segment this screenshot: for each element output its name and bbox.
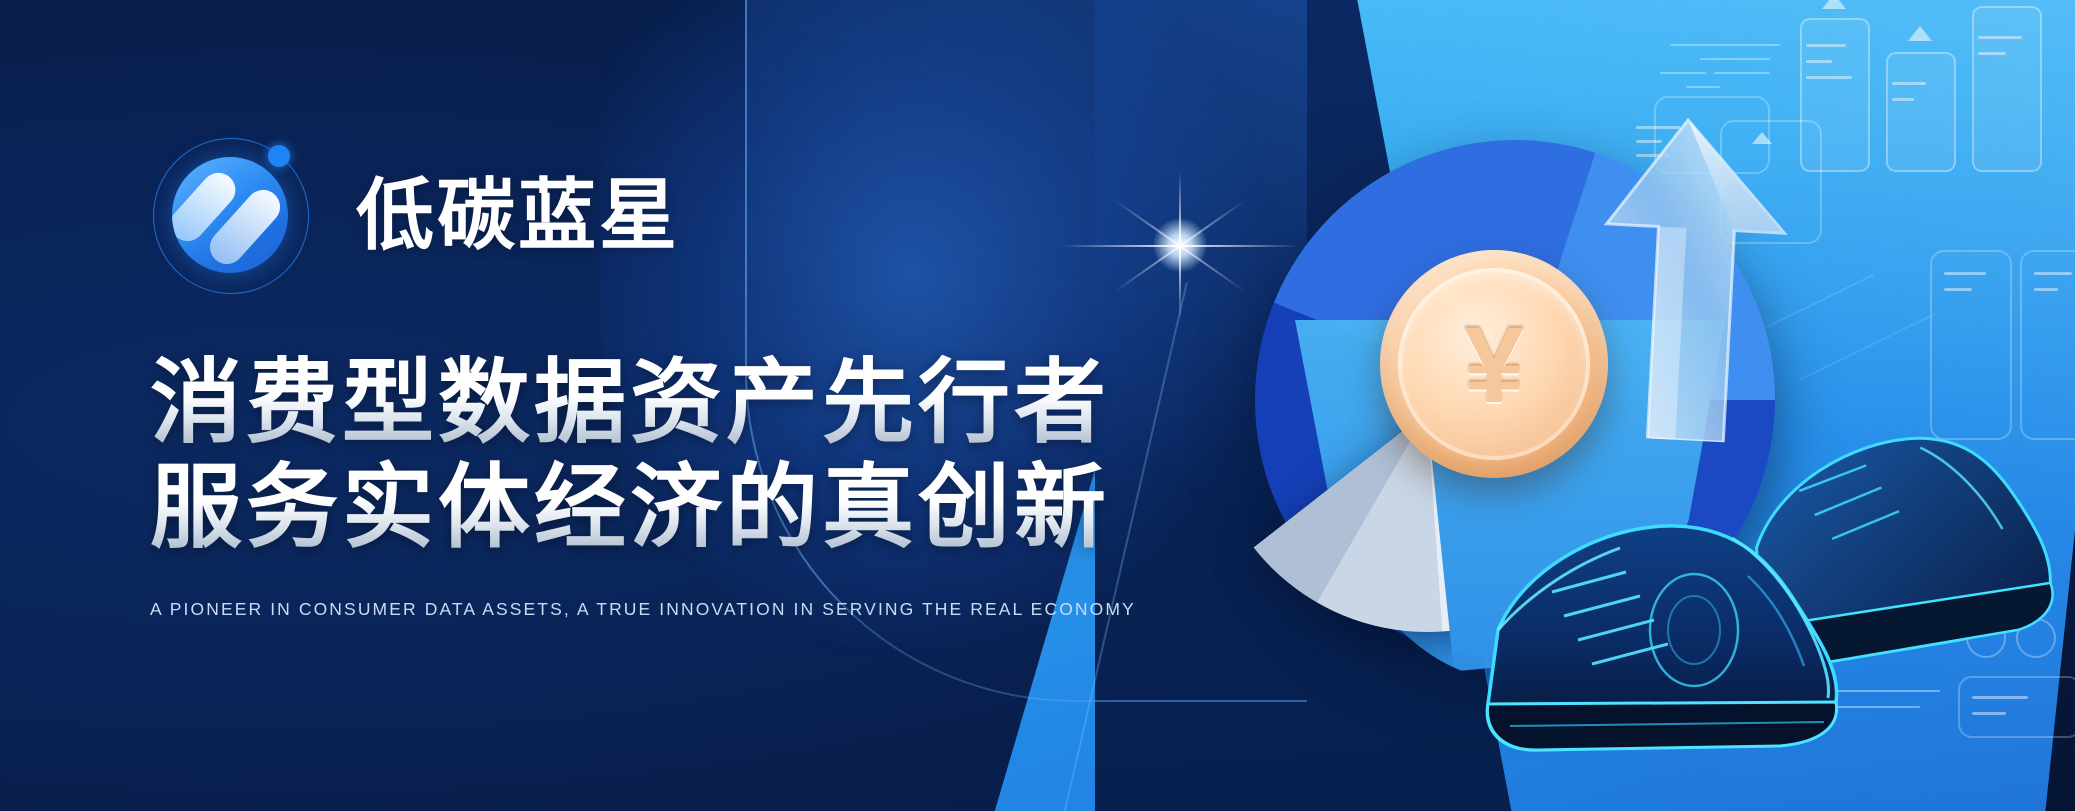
headline-line-2: 服务实体经济的真创新 — [150, 456, 1110, 561]
brand-name: 低碳蓝星 — [356, 176, 680, 254]
banner-content: 低碳蓝星 消费型数据资产先行者 服务实体经济的真创新 A PIONEER IN … — [150, 135, 1110, 620]
headline-line-1: 消费型数据资产先行者 — [150, 351, 1110, 456]
double-slash-orbit-logo-icon — [150, 135, 310, 295]
hero-banner: ¥ — [0, 0, 2075, 811]
logo-disc — [172, 157, 288, 273]
orbit-dot-icon — [268, 145, 290, 167]
headline: 消费型数据资产先行者 服务实体经济的真创新 — [150, 351, 1110, 561]
neon-sneakers-icon — [1480, 420, 2075, 760]
brand-row: 低碳蓝星 — [150, 135, 1110, 295]
english-subtitle: A PIONEER IN CONSUMER DATA ASSETS, A TRU… — [150, 599, 1110, 620]
